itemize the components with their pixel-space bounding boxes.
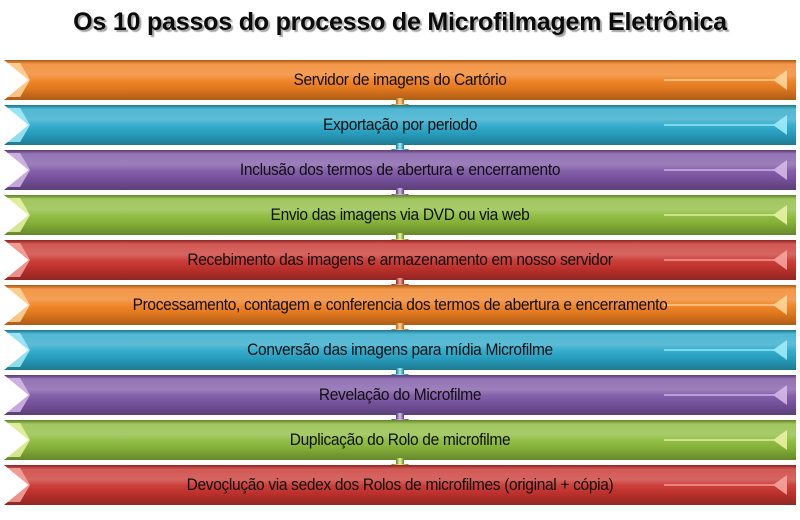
process-step-1[interactable]: Servidor de imagens do Cartório: [4, 60, 796, 100]
connector-shaft: [396, 323, 404, 330]
page-title: Os 10 passos do processo de Microfilmage…: [0, 8, 800, 37]
process-step-9[interactable]: Duplicação do Rolo de microfilme: [4, 420, 796, 460]
step-label: Revelação do Microfilme: [28, 375, 772, 415]
process-step-8[interactable]: Revelação do Microfilme: [4, 375, 796, 415]
connector-shaft: [396, 188, 404, 195]
step-label: Recebimento das imagens e armazenamento …: [28, 240, 772, 280]
connector-shaft: [396, 458, 404, 465]
connector-shaft: [396, 98, 404, 105]
process-step-6[interactable]: Processamento, contagem e conferencia do…: [4, 285, 796, 325]
step-label: Conversão das imagens para mídia Microfi…: [28, 330, 772, 370]
step-label: Devoçlução via sedex dos Rolos de microf…: [28, 465, 772, 505]
process-step-3[interactable]: Inclusão dos termos de abertura e encerr…: [4, 150, 796, 190]
step-label: Exportação por periodo: [28, 105, 772, 145]
process-flow-diagram: Servidor de imagens do CartórioExportaçã…: [0, 58, 800, 518]
step-label: Servidor de imagens do Cartório: [28, 60, 772, 100]
process-step-7[interactable]: Conversão das imagens para mídia Microfi…: [4, 330, 796, 370]
step-label: Duplicação do Rolo de microfilme: [28, 420, 772, 460]
connector-shaft: [396, 233, 404, 240]
connector-shaft: [396, 143, 404, 150]
connector-shaft: [396, 368, 404, 375]
step-label: Envio das imagens via DVD ou via web: [28, 195, 772, 235]
connector-shaft: [396, 278, 404, 285]
step-label: Inclusão dos termos de abertura e encerr…: [28, 150, 772, 190]
connector-shaft: [396, 413, 404, 420]
process-step-10[interactable]: Devoçlução via sedex dos Rolos de microf…: [4, 465, 796, 505]
step-label: Processamento, contagem e conferencia do…: [28, 285, 772, 325]
process-step-5[interactable]: Recebimento das imagens e armazenamento …: [4, 240, 796, 280]
process-step-2[interactable]: Exportação por periodo: [4, 105, 796, 145]
process-step-4[interactable]: Envio das imagens via DVD ou via web: [4, 195, 796, 235]
